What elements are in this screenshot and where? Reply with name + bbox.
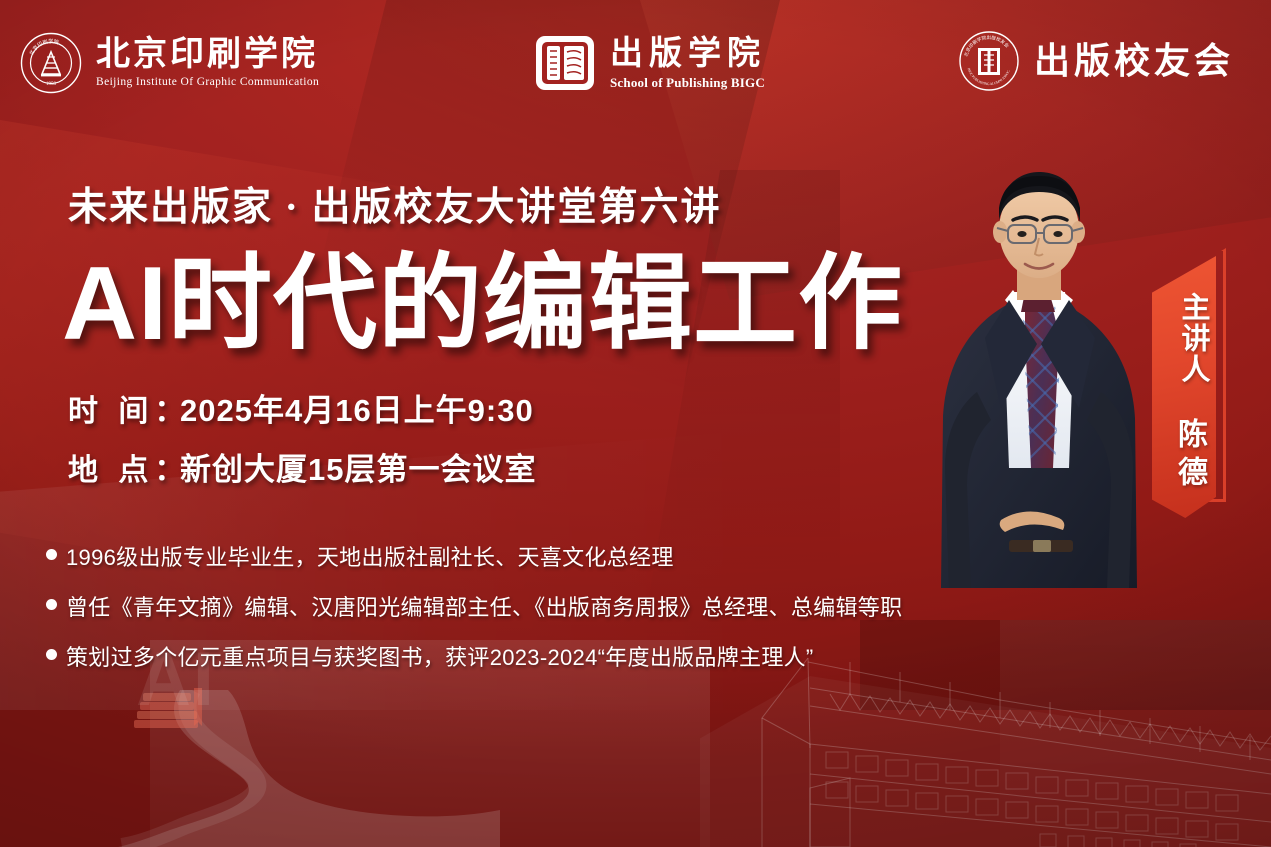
location-label: 地 点： [68,445,180,489]
time-value: 2025年4月16日上午9:30 [180,385,534,430]
bullet-dot-icon [46,599,57,610]
logo-bigc-en: Beijing Institute Of Graphic Communicati… [96,77,319,89]
speaker-name: 陈德 [1159,418,1211,494]
logo-school-of-publishing: 出版学院 School of Publishing BIGC [534,32,766,94]
logo-bigc-cn: 北京印刷学院 [96,38,319,72]
lecture-title: AI时代的编辑工作 [62,250,903,359]
logo-bar: 1958 北京印刷学院 北京印刷学院 Beijing Institute Of … [0,0,1271,122]
bio-text: 1996级出版专业毕业生，天地出版社副社长、天喜文化总经理 [66,540,674,572]
list-item: 1996级出版专业毕业生，天地出版社副社长、天喜文化总经理 [46,540,976,572]
alumni-seal-icon: 北京印刷学院出版校友会 BIGC PUBLISHING ALUMNI ASSOC… [958,30,1020,92]
bullet-dot-icon [46,649,57,660]
lecture-poster: AI [0,0,1271,847]
bio-text: 策划过多个亿元重点项目与获奖图书，获评2023-2024“年度出版品牌主理人” [66,640,814,672]
logo-school-cn: 出版学院 [610,38,766,71]
publishing-book-seal-icon [534,32,596,94]
event-details: 时 间： 2025年4月16日上午9:30 地 点： 新创大厦15层第一会议室 [68,385,536,503]
time-label: 时 间： [68,386,180,430]
location-value: 新创大厦15层第一会议室 [180,444,536,489]
speaker-portrait [905,168,1185,588]
logo-alumni-cn: 出版校友会 [1034,43,1234,79]
logo-bigc: 1958 北京印刷学院 北京印刷学院 Beijing Institute Of … [20,32,319,94]
bigc-seal-icon: 1958 北京印刷学院 [20,32,82,94]
series-title: 未来出版家 · 出版校友大讲堂第六讲 [68,176,722,232]
list-item: 曾任《青年文摘》编辑、汉唐阳光编辑部主任、《出版商务周报》总经理、总编辑等职 [46,590,976,622]
speaker-bio-list: 1996级出版专业毕业生，天地出版社副社长、天喜文化总经理 曾任《青年文摘》编辑… [46,540,976,690]
logo-alumni-association: 北京印刷学院出版校友会 BIGC PUBLISHING ALUMNI ASSOC… [958,30,1234,92]
detail-row-location: 地 点： 新创大厦15层第一会议室 [68,444,536,489]
logo-school-en: School of Publishing BIGC [610,76,766,89]
detail-row-time: 时 间： 2025年4月16日上午9:30 [68,385,536,430]
svg-text:1958: 1958 [46,82,57,87]
bio-text: 曾任《青年文摘》编辑、汉唐阳光编辑部主任、《出版商务周报》总经理、总编辑等职 [66,590,902,622]
list-item: 策划过多个亿元重点项目与获奖图书，获评2023-2024“年度出版品牌主理人” [46,640,976,672]
speaker-role-label: 主讲人 [1160,292,1210,385]
bullet-dot-icon [46,549,57,560]
